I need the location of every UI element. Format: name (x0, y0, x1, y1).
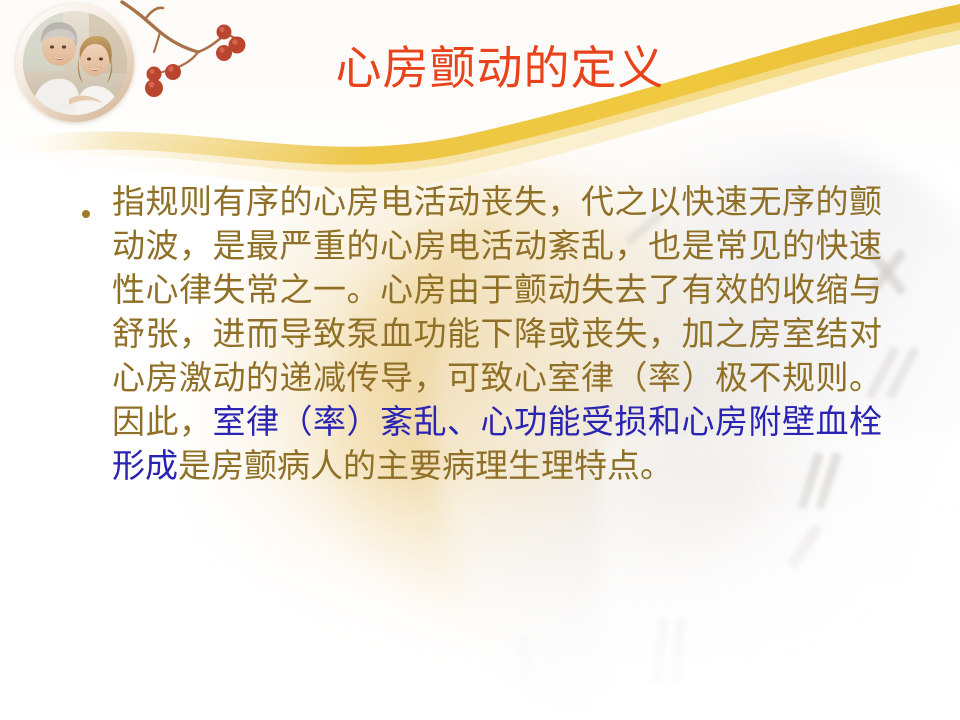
avatar-image-clip (23, 11, 127, 115)
bullet-marker (82, 180, 112, 222)
family-photo-illustration (23, 11, 127, 115)
paragraph-segment-tail: 是房颤病人的主要病理生理特点。 (178, 447, 673, 484)
content-bullet-block: 指规则有序的心房电活动丧失，代之以快速无序的颤动波，是最严重的心房电活动紊乱，也… (82, 180, 882, 488)
bullet-dot-icon (82, 210, 90, 218)
presentation-slide: 心房颤动的定义 指规则有序的心房电活动丧失，代之以快速无序的颤动波，是最严重的心… (0, 0, 960, 720)
body-paragraph: 指规则有序的心房电活动丧失，代之以快速无序的颤动波，是最严重的心房电活动紊乱，也… (112, 180, 882, 488)
paragraph-segment-lead: 指规则有序的心房电活动丧失，代之以快速无序的颤动波，是最严重的心房电活动紊乱，也… (112, 183, 882, 440)
slide-header: 心房颤动的定义 (0, 0, 960, 190)
page-title: 心房颤动的定义 (150, 42, 850, 95)
avatar (16, 4, 134, 122)
